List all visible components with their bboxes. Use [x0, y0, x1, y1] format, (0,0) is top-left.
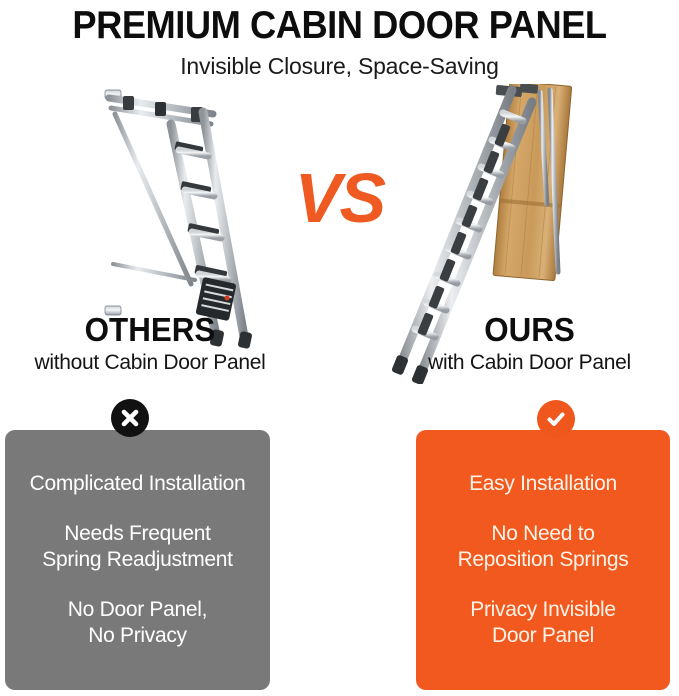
- others-point-line: No Door Panel,: [19, 597, 256, 623]
- versus-label: VS: [0, 163, 679, 233]
- others-drawbacks-panel: Complicated Installation Needs Frequent …: [5, 430, 270, 690]
- cross-icon: [111, 399, 149, 437]
- others-point-line: Needs Frequent: [19, 521, 256, 547]
- others-point: No Door Panel, No Privacy: [19, 597, 256, 649]
- check-icon: [537, 400, 575, 438]
- ours-point-line: No Need to: [430, 521, 656, 547]
- others-heading-title: OTHERS: [8, 312, 293, 348]
- ours-point-line: Door Panel: [430, 623, 656, 649]
- header: PREMIUM CABIN DOOR PANEL Invisible Closu…: [0, 0, 679, 79]
- ours-point: Privacy Invisible Door Panel: [430, 597, 656, 649]
- others-point: Needs Frequent Spring Readjustment: [19, 521, 256, 573]
- ours-point: Easy Installation: [430, 471, 656, 497]
- ours-point-line: Reposition Springs: [430, 547, 656, 573]
- ours-point: No Need to Reposition Springs: [430, 521, 656, 573]
- page-title: PREMIUM CABIN DOOR PANEL: [24, 0, 655, 47]
- others-heading-subtitle: without Cabin Door Panel: [0, 350, 300, 376]
- ours-heading-subtitle: with Cabin Door Panel: [380, 350, 679, 376]
- page-subtitle: Invisible Closure, Space-Saving: [0, 47, 679, 79]
- others-point-line: No Privacy: [19, 623, 256, 649]
- others-point-line: Spring Readjustment: [19, 547, 256, 573]
- ours-benefits-panel: Easy Installation No Need to Reposition …: [416, 430, 670, 690]
- ours-point-line: Privacy Invisible: [430, 597, 656, 623]
- ours-heading-title: OURS: [387, 312, 671, 348]
- ours-point-line: Easy Installation: [430, 471, 656, 497]
- others-point-line: Complicated Installation: [19, 471, 256, 497]
- others-column-heading: OTHERS without Cabin Door Panel: [0, 312, 300, 376]
- others-point: Complicated Installation: [19, 471, 256, 497]
- ours-column-heading: OURS with Cabin Door Panel: [380, 312, 679, 376]
